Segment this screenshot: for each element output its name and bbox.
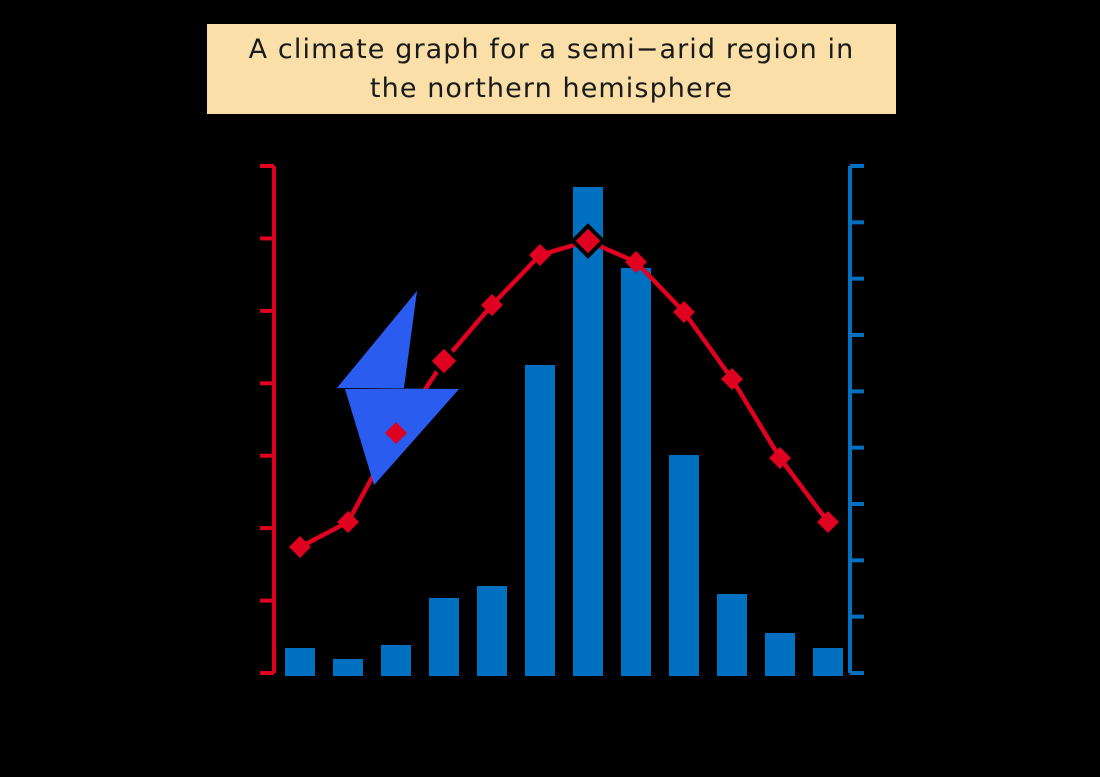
rainfall-bar <box>285 648 315 676</box>
rainfall-bar <box>717 594 747 676</box>
temperature-axis-left <box>260 166 274 673</box>
chart-svg <box>0 0 1100 777</box>
lightning-bolt-upper[interactable] <box>337 291 417 388</box>
rainfall-bar <box>525 365 555 676</box>
rainfall-bar <box>381 645 411 676</box>
rainfall-axis-right <box>850 166 864 673</box>
rainfall-bar <box>621 268 651 676</box>
rainfall-bar <box>333 659 363 676</box>
climate-graph-canvas: A climate graph for a semi−arid region i… <box>0 0 1100 777</box>
rainfall-bar <box>429 598 459 676</box>
temperature-marker[interactable] <box>289 536 311 558</box>
plot-area <box>0 0 1100 777</box>
temperature-marker[interactable] <box>337 511 359 533</box>
rainfall-bar <box>669 455 699 676</box>
rainfall-bar <box>813 648 843 676</box>
rainfall-bar <box>765 633 795 676</box>
lightning-bolt-cursor-icon[interactable] <box>337 291 459 485</box>
rainfall-bar <box>573 187 603 676</box>
rainfall-bar <box>477 586 507 676</box>
